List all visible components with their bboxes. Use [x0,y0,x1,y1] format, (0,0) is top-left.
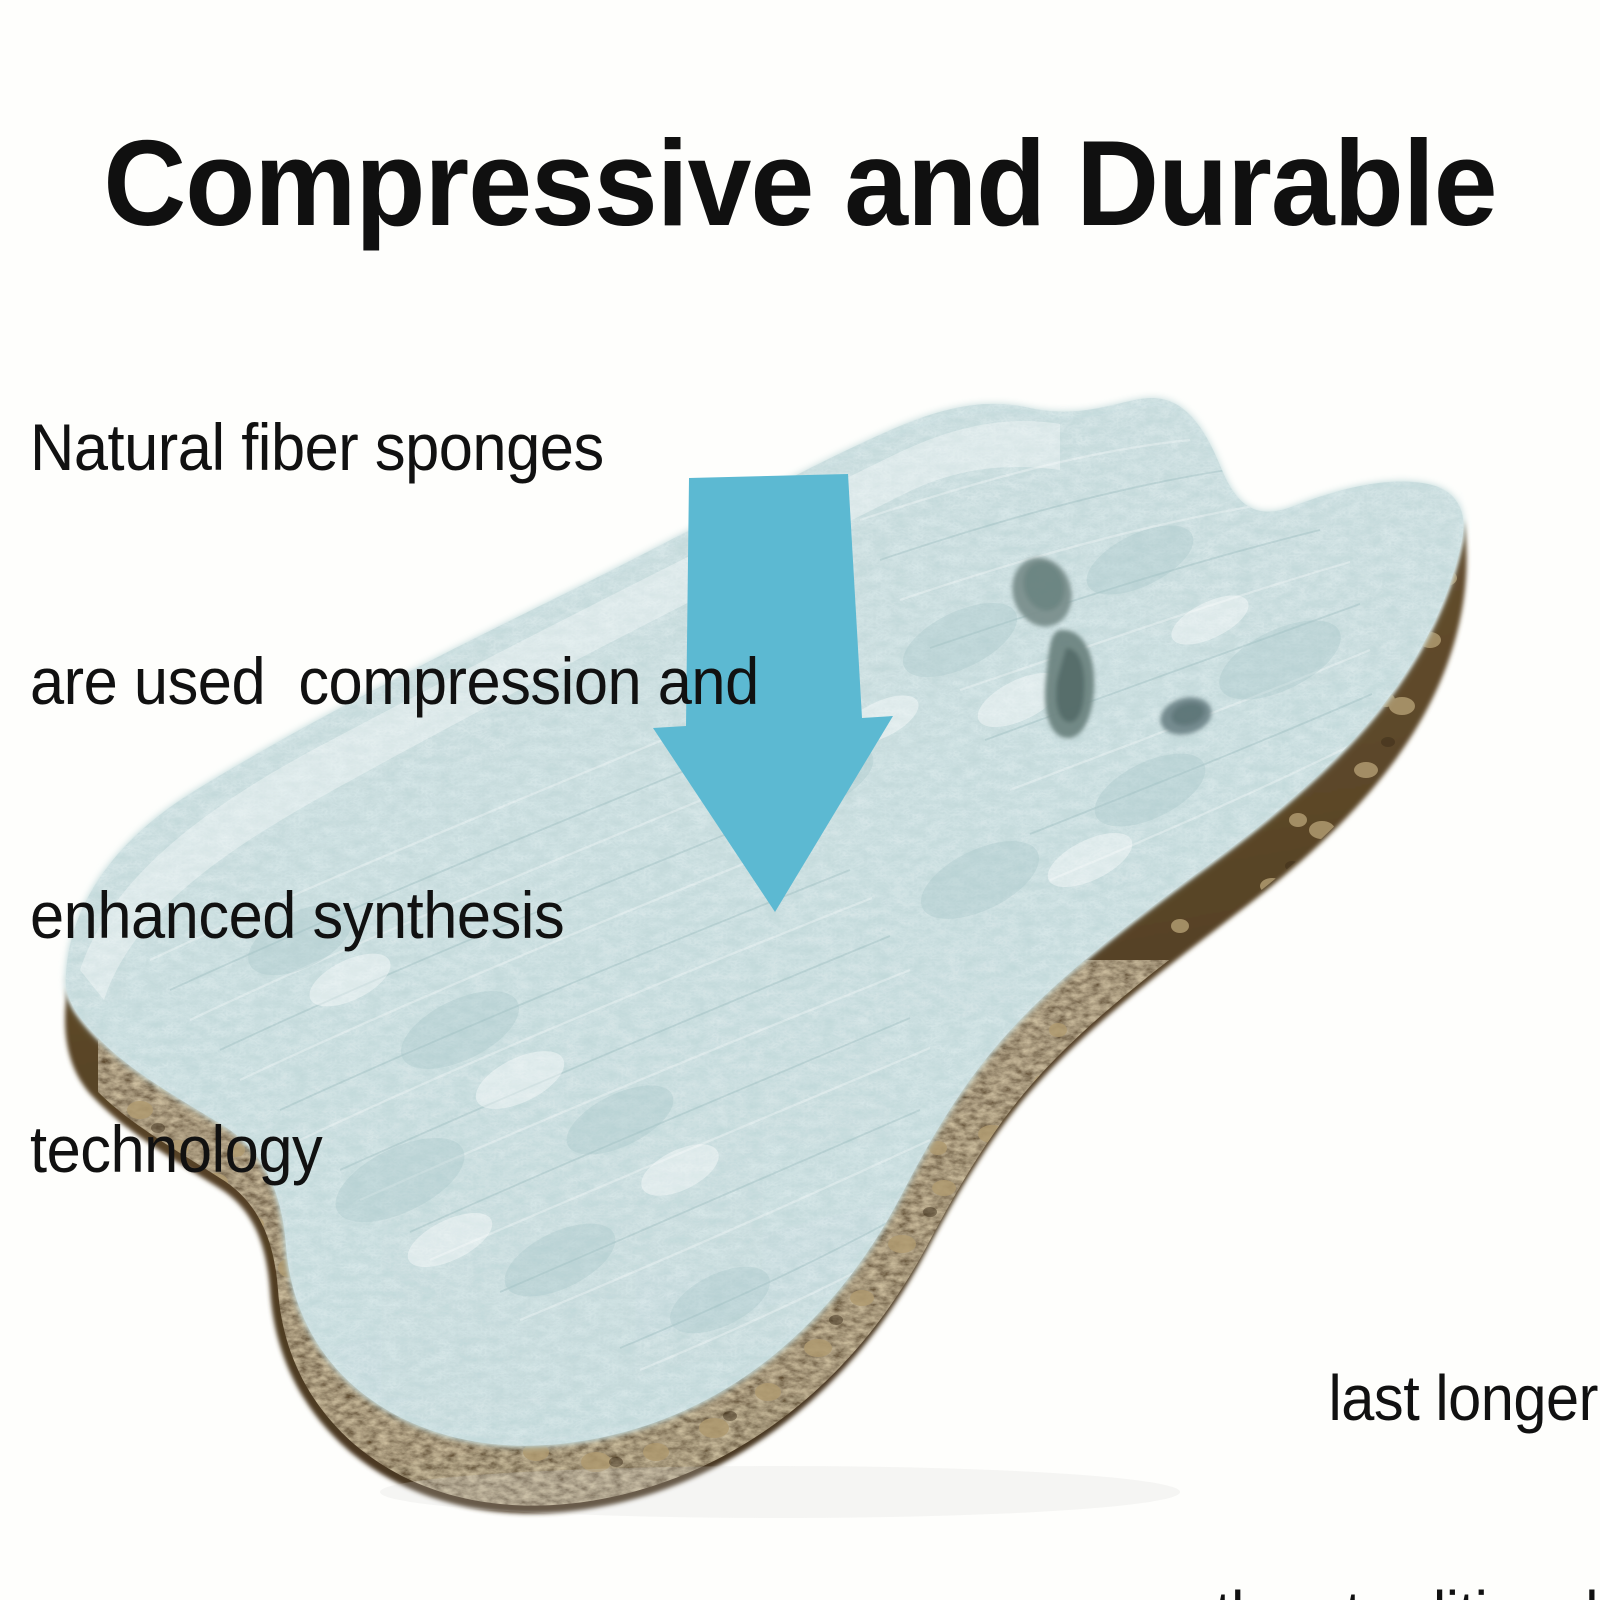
right-description-text: last longer than traditional sponges thu… [575,1218,1598,1600]
page-title: Compressive and Durable [48,122,1552,244]
left-copy-line-2: are used compression and [30,642,886,720]
left-copy-line-1: Natural fiber sponges [30,408,886,486]
right-copy-line-2: than traditional [575,1578,1598,1600]
right-copy-line-1: last longer [575,1362,1598,1434]
left-description-text: Natural fiber sponges are used compressi… [30,252,886,1344]
product-feature-image: Compressive and Durable Natural fiber sp… [0,0,1600,1600]
left-copy-line-4: technology [30,1110,886,1188]
left-copy-line-3: enhanced synthesis [30,876,886,954]
